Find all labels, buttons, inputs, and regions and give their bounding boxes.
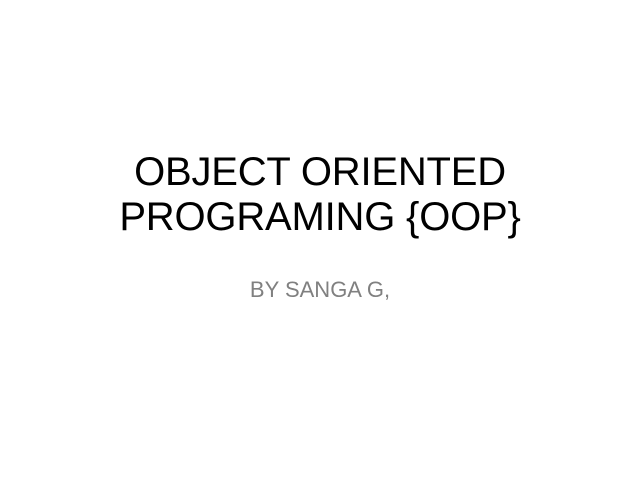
title-placeholder: OBJECT ORIENTED PROGRAMING {OOP}: [48, 150, 592, 240]
presentation-slide: OBJECT ORIENTED PROGRAMING {OOP} BY SANG…: [0, 0, 640, 480]
slide-subtitle: BY SANGA G,: [48, 276, 592, 304]
subtitle-placeholder: BY SANGA G,: [48, 276, 592, 304]
slide-title: OBJECT ORIENTED PROGRAMING {OOP}: [48, 150, 592, 240]
